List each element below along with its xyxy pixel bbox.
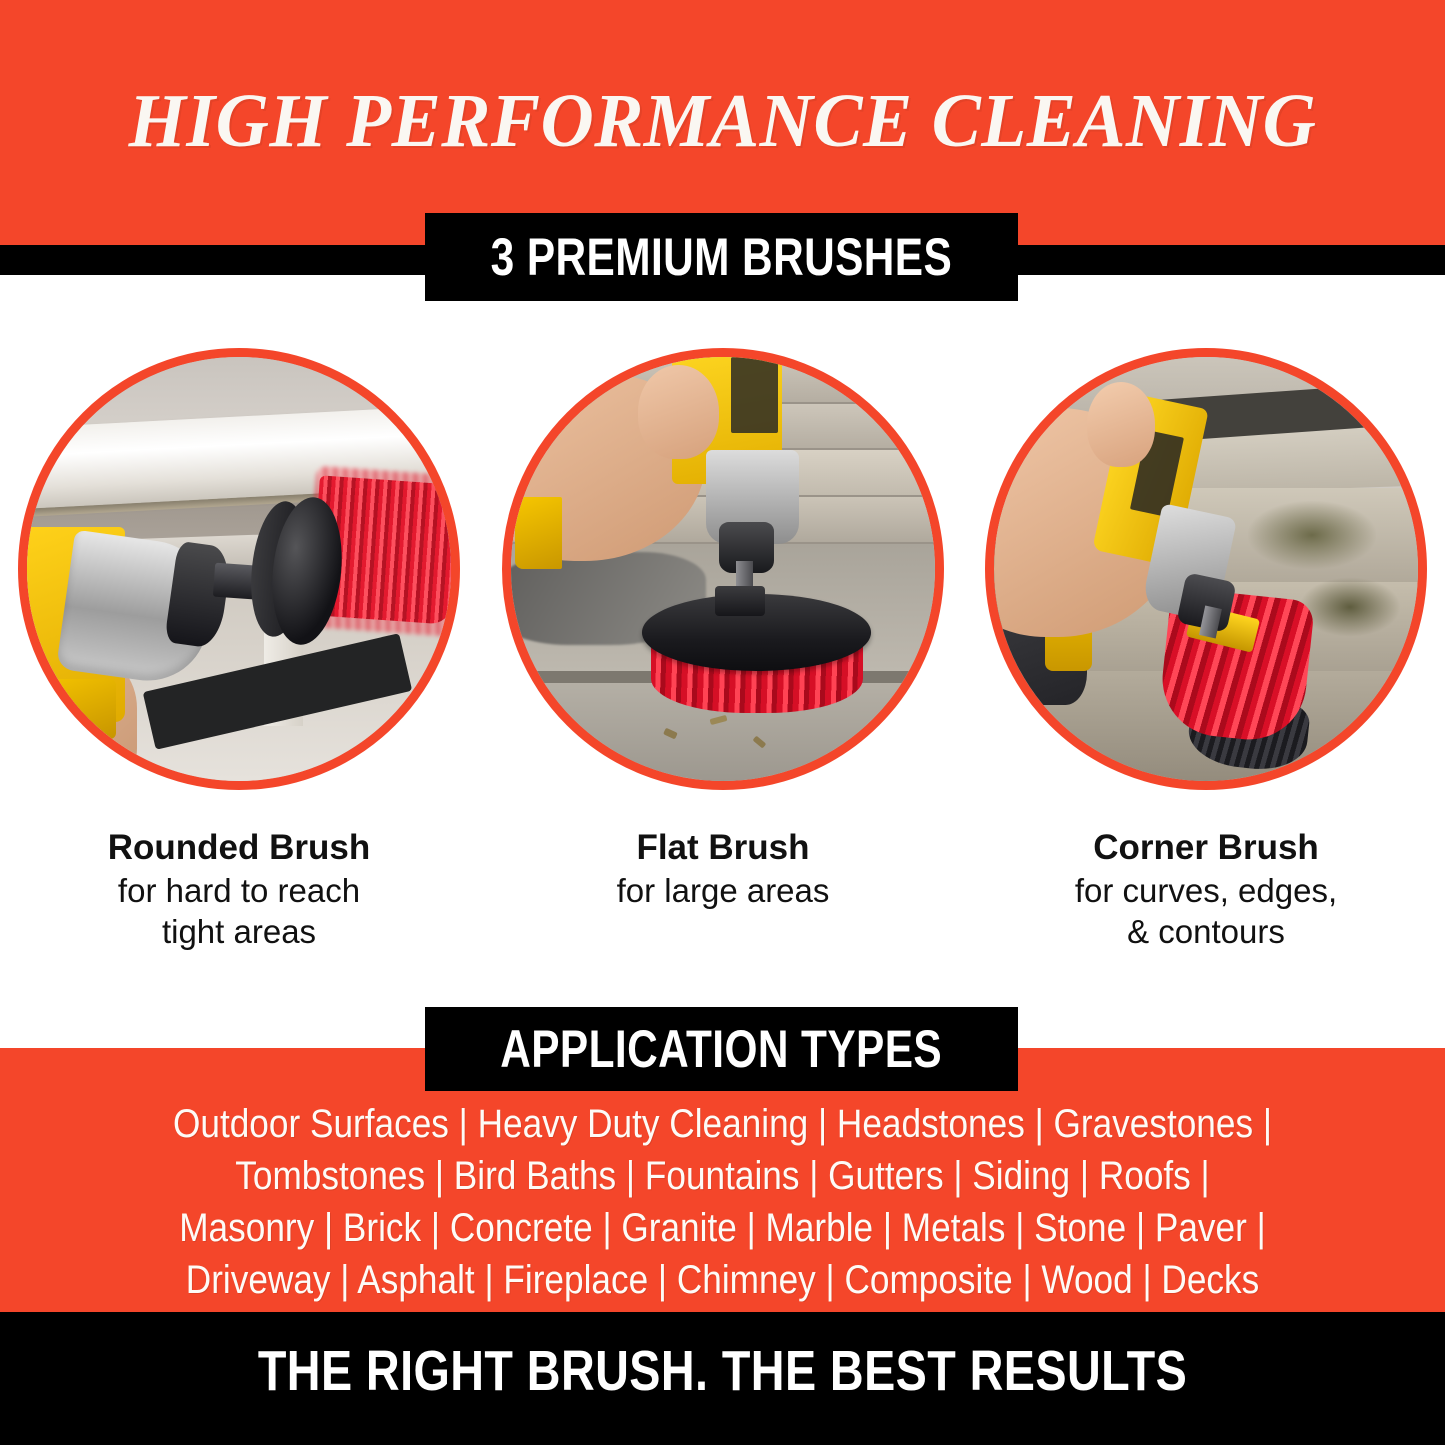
- applications-list: Outdoor Surfaces | Heavy Duty Cleaning |…: [0, 1098, 1445, 1306]
- brush-photo-flat-image: [511, 357, 935, 781]
- brush-name-corner: Corner Brush: [985, 826, 1427, 870]
- brush-photo-corner: [985, 348, 1427, 790]
- applications-line-1: Outdoor Surfaces | Heavy Duty Cleaning |…: [87, 1098, 1359, 1150]
- brush-name-flat: Flat Brush: [502, 826, 944, 870]
- applications-section-heading-box: APPLICATION TYPES: [425, 1007, 1018, 1091]
- brush-photo-corner-image: [994, 357, 1418, 781]
- brush-caption-row: Rounded Brush for hard to reach tight ar…: [0, 826, 1445, 986]
- brush-name-rounded: Rounded Brush: [18, 826, 460, 870]
- brush-photo-rounded-image: [27, 357, 451, 781]
- brush-desc-corner-line1: for curves, edges,: [985, 870, 1427, 911]
- brush-caption-rounded: Rounded Brush for hard to reach tight ar…: [18, 826, 460, 952]
- brush-photo-rounded: [18, 348, 460, 790]
- brush-caption-corner: Corner Brush for curves, edges, & contou…: [985, 826, 1427, 952]
- applications-line-3: Masonry | Brick | Concrete | Granite | M…: [87, 1202, 1359, 1254]
- brush-desc-rounded-line2: tight areas: [18, 911, 460, 952]
- brush-desc-corner-line2: & contours: [985, 911, 1427, 952]
- brush-desc-flat-line1: for large areas: [502, 870, 944, 911]
- brush-desc-rounded-line1: for hard to reach: [18, 870, 460, 911]
- brush-caption-flat: Flat Brush for large areas: [502, 826, 944, 911]
- footer-tagline: THE RIGHT BRUSH. THE BEST RESULTS: [130, 1338, 1315, 1404]
- applications-line-2: Tombstones | Bird Baths | Fountains | Gu…: [87, 1150, 1359, 1202]
- brush-photo-flat: [502, 348, 944, 790]
- applications-section-heading-text: APPLICATION TYPES: [501, 1019, 943, 1080]
- applications-line-4: Driveway | Asphalt | Fireplace | Chimney…: [87, 1254, 1359, 1306]
